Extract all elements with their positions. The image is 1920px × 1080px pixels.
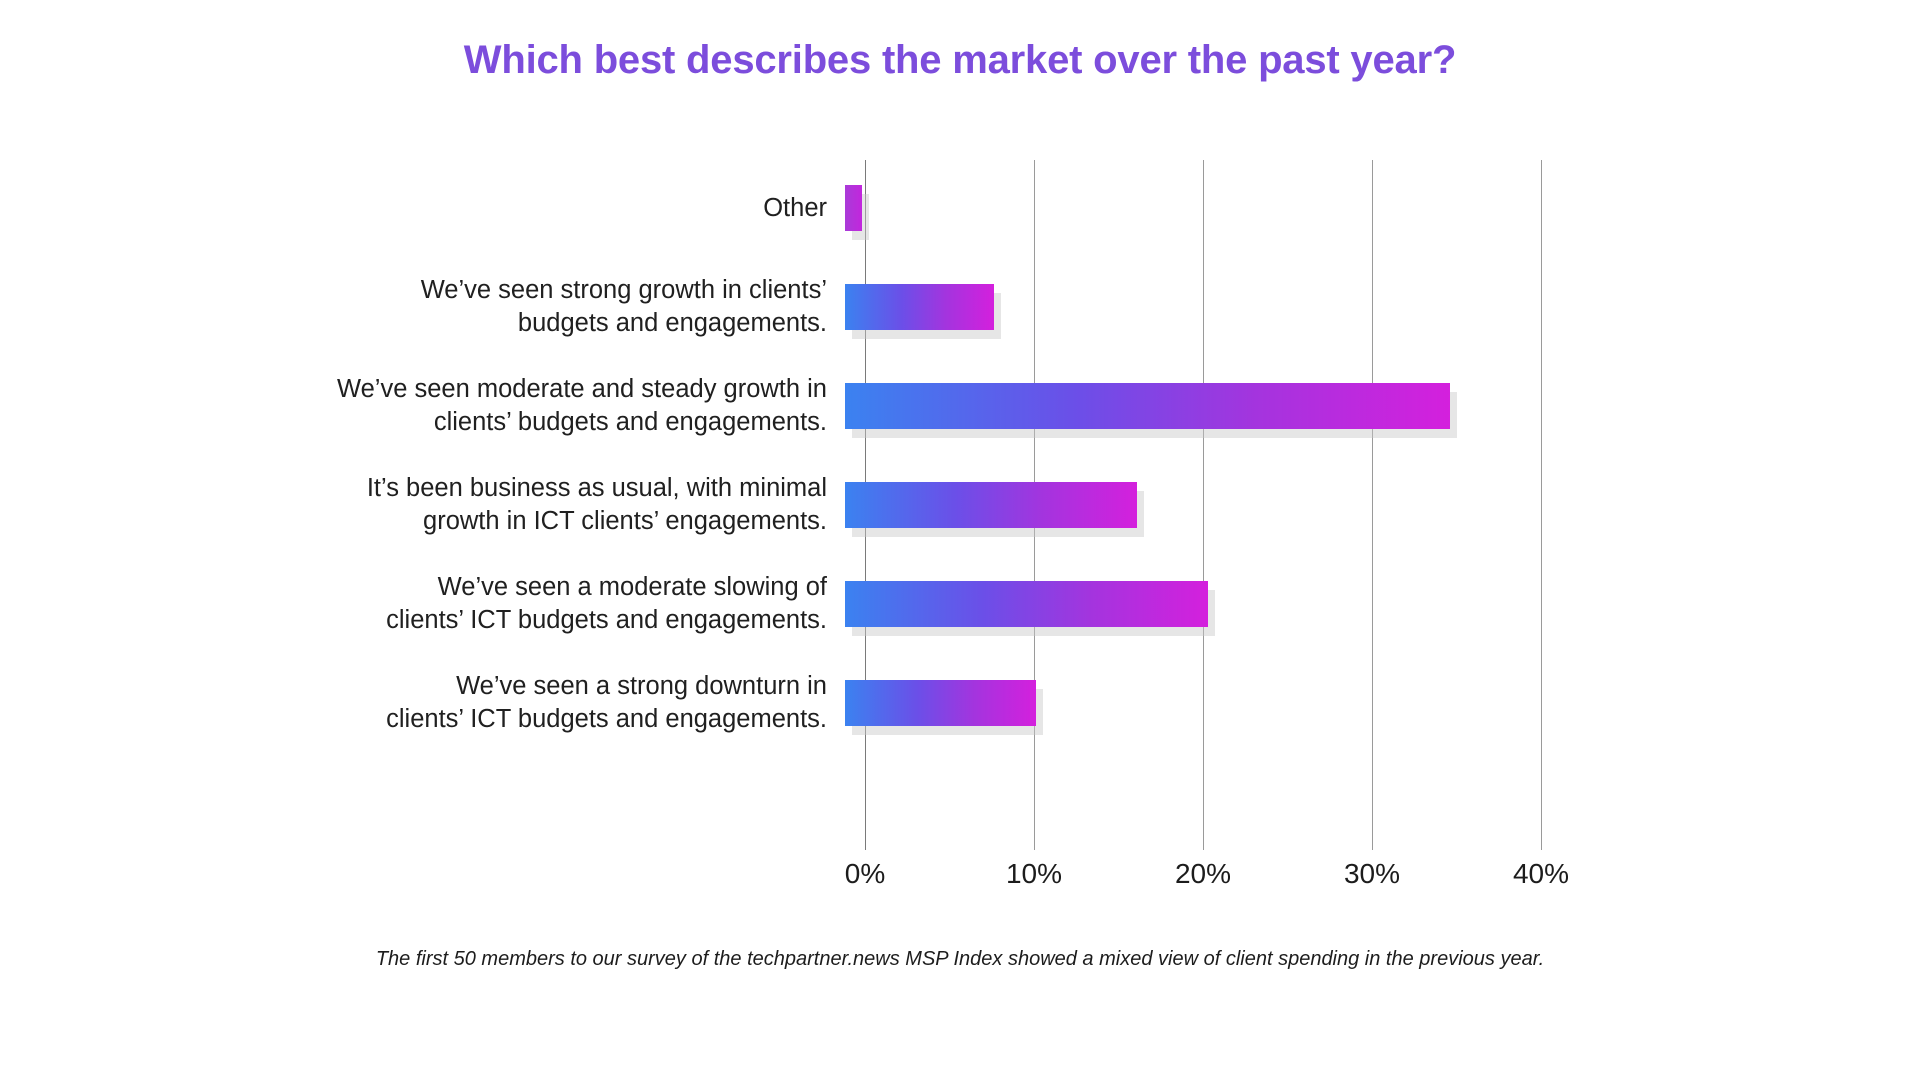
category-label: We’ve seen a moderate slowing of clients… bbox=[0, 571, 845, 636]
page-title: Which best describes the market over the… bbox=[0, 38, 1920, 83]
table-row: We’ve seen a moderate slowing of clients… bbox=[0, 556, 1920, 652]
chart-page: Which best describes the market over the… bbox=[0, 0, 1920, 1080]
category-label: It’s been business as usual, with minima… bbox=[0, 472, 845, 537]
bar-strong-downturn bbox=[845, 680, 1036, 726]
bar-track bbox=[845, 358, 1920, 454]
x-axis: 0% 10% 20% 30% 40% bbox=[865, 858, 1541, 906]
category-label: We’ve seen strong growth in clients’ bud… bbox=[0, 274, 845, 339]
category-label: We’ve seen moderate and steady growth in… bbox=[0, 373, 845, 438]
x-tick-0: 0% bbox=[845, 858, 885, 890]
table-row: Other bbox=[0, 160, 1920, 256]
category-label: We’ve seen a strong downturn in clients’… bbox=[0, 670, 845, 735]
bar-other bbox=[845, 185, 862, 231]
bar-moderate-slowing bbox=[845, 581, 1208, 627]
chart-caption: The first 50 members to our survey of th… bbox=[0, 948, 1920, 971]
bar-rows: Other We’ve seen strong growth in client… bbox=[0, 160, 1920, 850]
bar-track bbox=[845, 160, 1920, 256]
x-tick-20: 20% bbox=[1175, 858, 1231, 890]
bar-moderate-steady-growth bbox=[845, 383, 1450, 429]
table-row: We’ve seen a strong downturn in clients’… bbox=[0, 655, 1920, 751]
bar-strong-growth bbox=[845, 284, 994, 330]
x-tick-30: 30% bbox=[1344, 858, 1400, 890]
table-row: We’ve seen moderate and steady growth in… bbox=[0, 358, 1920, 454]
table-row: We’ve seen strong growth in clients’ bud… bbox=[0, 259, 1920, 355]
x-tick-40: 40% bbox=[1513, 858, 1569, 890]
bar-business-as-usual bbox=[845, 482, 1137, 528]
table-row: It’s been business as usual, with minima… bbox=[0, 457, 1920, 553]
bar-track bbox=[845, 457, 1920, 553]
bar-track bbox=[845, 259, 1920, 355]
bar-track bbox=[845, 556, 1920, 652]
category-label: Other bbox=[0, 192, 845, 225]
x-tick-10: 10% bbox=[1006, 858, 1062, 890]
bar-track bbox=[845, 655, 1920, 751]
